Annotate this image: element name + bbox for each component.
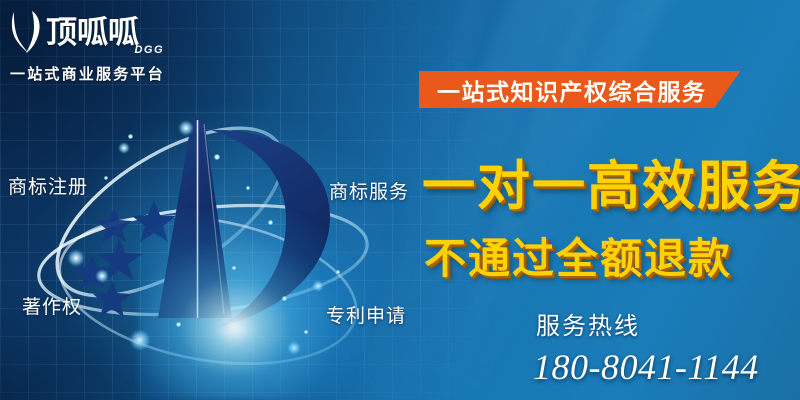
- feature-label-trademark-registration: 商标注册: [8, 172, 88, 199]
- leaf-v-mark-icon: [10, 9, 44, 55]
- promo-ribbon: 一站式知识产权综合服务: [419, 71, 741, 108]
- sparkle: [176, 322, 181, 327]
- sparkle: [304, 330, 308, 334]
- sparkle: [128, 134, 133, 139]
- brand-tagline: 一站式商业服务平台: [10, 63, 190, 84]
- ip-monument-orbit-emblem: [18, 90, 388, 390]
- sparkle: [232, 266, 236, 270]
- feature-label-trademark-service: 商标服务: [329, 177, 409, 204]
- brand-abbreviation: DGG: [134, 44, 164, 56]
- sparkle: [336, 270, 340, 274]
- brand-name: 顶呱呱: [46, 17, 139, 48]
- sparkle: [246, 186, 250, 190]
- feature-label-copyright: 著作权: [22, 292, 82, 319]
- promotional-banner: 顶呱呱 DGG 一站式商业服务平台 商标注册 著作权 商标服务 专利申请 一站式…: [0, 0, 800, 400]
- hotline-number[interactable]: 180-8041-1144: [533, 346, 759, 388]
- hotline-label: 服务热线: [536, 306, 640, 341]
- sparkle: [268, 220, 273, 225]
- sparkle: [282, 296, 287, 301]
- orbit-node: [178, 120, 194, 136]
- orbit-node: [118, 142, 130, 154]
- promo-headline: 一对一高效服务: [422, 144, 800, 220]
- promo-subline: 不通过全额退款: [424, 225, 732, 286]
- orbit-node: [67, 249, 85, 267]
- sparkle: [214, 154, 220, 160]
- feature-label-patent-application: 专利申请: [326, 301, 406, 328]
- brand-logo: 顶呱呱 DGG 一站式商业服务平台: [10, 8, 190, 84]
- sparkle: [104, 176, 108, 180]
- orbit-node: [95, 269, 109, 283]
